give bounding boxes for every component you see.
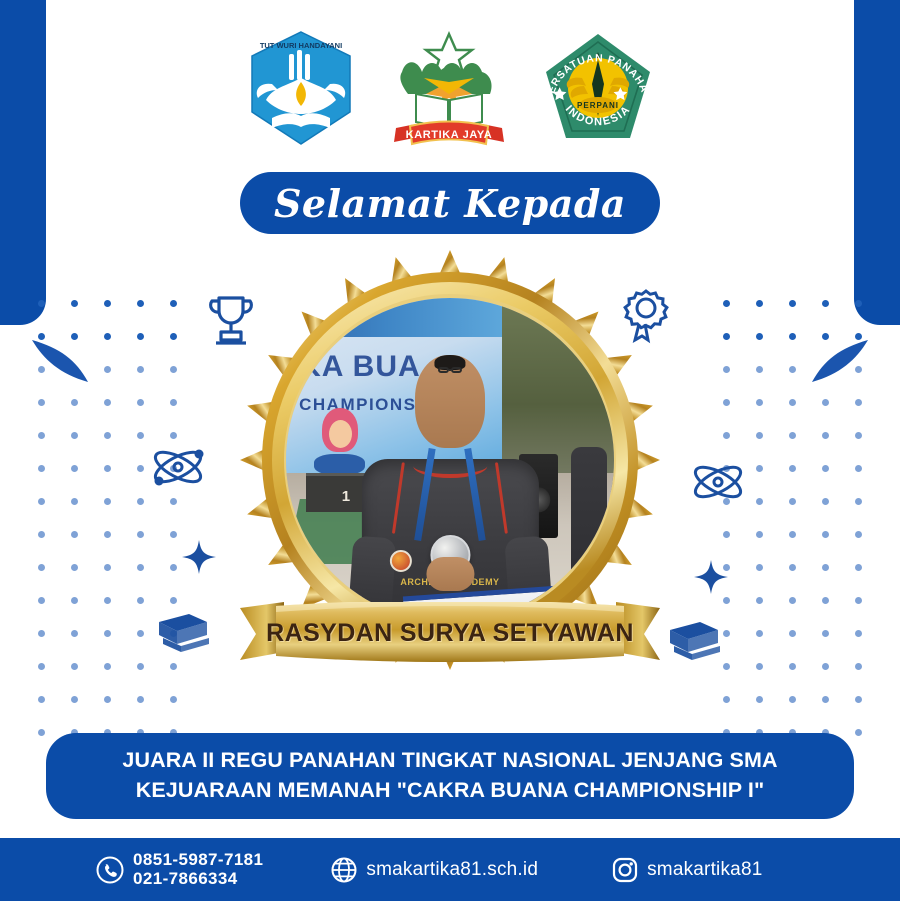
tut-wuri-handayani-logo: TUT WURI HANDAYANI	[242, 28, 360, 150]
recipient-photo: KA BUA CHAMPIONSHIP 1	[286, 298, 614, 622]
phone-number-1: 0851-5987-7181	[133, 851, 263, 870]
photo-mascot	[312, 408, 368, 479]
atom-icon-left	[150, 440, 206, 494]
kartika-jaya-logo: KARTIKA JAYA	[386, 28, 512, 154]
header-logos: TUT WURI HANDAYANI KARTIKA JAYA	[0, 28, 900, 154]
instagram-icon	[612, 857, 638, 883]
recipient-name: RASYDAN SURYA SETYAWAN	[240, 602, 660, 668]
footer-website[interactable]: smakartika81.sch.id	[331, 857, 538, 883]
recipient-name-ribbon: RASYDAN SURYA SETYAWAN	[240, 602, 660, 668]
photo-person: DAA ARCHERY ACADEMY	[361, 350, 538, 622]
atom-icon-right	[690, 455, 746, 509]
books-icon-right	[666, 620, 722, 662]
svg-text:TUT WURI HANDAYANI: TUT WURI HANDAYANI	[260, 41, 342, 50]
svg-text:PERPANI: PERPANI	[577, 101, 619, 110]
achievement-line-1: JUARA II REGU PANAHAN TINGKAT NASIONAL J…	[66, 745, 834, 775]
svg-text:KARTIKA JAYA: KARTIKA JAYA	[406, 129, 493, 141]
sparkle-icon-left	[182, 540, 216, 574]
footer-contact-bar: 0851-5987-7181 021-7866334 smakartika81.…	[0, 838, 900, 901]
achievement-line-2: KEJUARAAN MEMANAH "CAKRA BUANA CHAMPIONS…	[66, 775, 834, 805]
achievement-banner: JUARA II REGU PANAHAN TINGKAT NASIONAL J…	[46, 733, 854, 819]
footer-instagram[interactable]: smakartika81	[612, 857, 762, 883]
swoosh-shape-left	[30, 338, 90, 384]
books-icon-left	[155, 612, 211, 654]
website-url: smakartika81.sch.id	[366, 859, 538, 881]
swoosh-shape-right	[810, 338, 870, 384]
sparkle-icon-right	[694, 560, 728, 594]
greeting-text: Selamat Kepada	[274, 181, 626, 226]
phone-number-2: 021-7866334	[133, 870, 263, 889]
perpani-logo: PERPANI PERSATUAN PANAHAN INDONESIA	[538, 28, 658, 152]
photo-podium-number: 1	[342, 488, 350, 505]
congratulations-poster: TUT WURI HANDAYANI KARTIKA JAYA	[0, 0, 900, 901]
globe-icon	[331, 857, 357, 883]
phone-icon	[96, 856, 124, 884]
instagram-handle: smakartika81	[647, 859, 762, 881]
footer-phone: 0851-5987-7181 021-7866334	[96, 851, 263, 888]
greeting-banner: Selamat Kepada	[240, 172, 660, 234]
